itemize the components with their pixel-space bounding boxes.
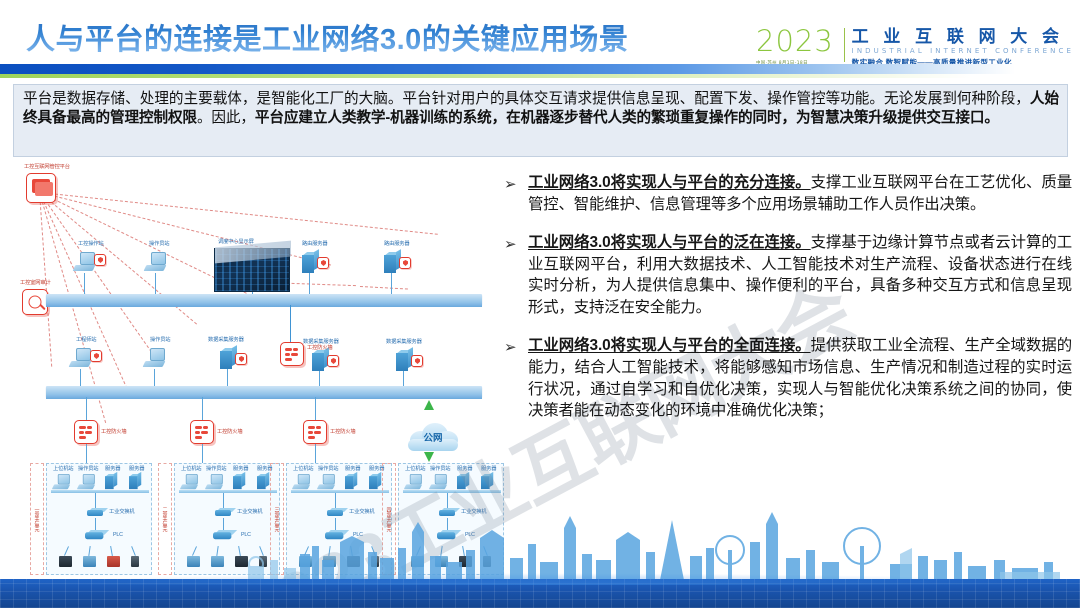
cell-node-label: 服务器 (105, 467, 120, 472)
device-icon (211, 556, 224, 567)
node-label: 数据采集服务器 (208, 338, 244, 343)
slide-canvas: 人与平台的连接是工业网络3.0的关键应用场景 人与平台的连接是工业网络3.0的关… (0, 0, 1080, 608)
production-cell: 上位机站 操作员站 服务器 服务器 工业交换机 (46, 463, 152, 575)
switch-label: 工业交换机 (237, 510, 263, 515)
connector-line (315, 397, 316, 420)
cell-node-label: 操作员站 (430, 467, 450, 472)
cloud-label: 公网 (406, 430, 460, 444)
node-label: 路由服务器 (384, 242, 410, 247)
workstation-icon (144, 348, 168, 370)
device-icon (459, 556, 472, 567)
server-icon (457, 474, 469, 489)
connector-line (227, 369, 228, 387)
connector-line (95, 518, 96, 530)
logo-conference-cn: 工 业 互 联 网 大 会 (852, 28, 1074, 46)
summary-text: 平台是数据存储、处理的主要载体，是智能化工厂的大脑。平台针对用户的具体交互请求提… (23, 90, 1059, 129)
connector-line (391, 273, 392, 295)
firewall-icon (74, 420, 98, 444)
industrial-switch-icon (215, 508, 235, 518)
cell-node-label: 上位机站 (405, 467, 425, 472)
device-icon (83, 556, 96, 567)
industrial-switch-icon (87, 508, 107, 518)
bullet-text: 工业网络3.0将实现人与平台的充分连接。支撑工业互联网平台在工艺优化、质量管控、… (528, 172, 1072, 215)
connector-line (403, 371, 404, 387)
connector-line (154, 369, 155, 387)
firewall-icon (303, 420, 327, 444)
connector-line (238, 546, 241, 556)
production-cell: 上位机站 操作员站 服务器 服务器 工业交换机 (286, 463, 392, 575)
logo-year: 2023 (756, 27, 842, 56)
plc-icon (437, 530, 460, 542)
uplink-arrow-icon (424, 400, 434, 410)
switch-label: 工业交换机 (109, 510, 135, 515)
cell-node-label: 服务器 (129, 467, 144, 472)
header-rule-green (0, 74, 1080, 78)
firewall-label: 工控防火墙 (330, 430, 356, 435)
device-icon (131, 556, 139, 567)
connector-line (416, 546, 421, 556)
network-bus-upper-edge (46, 303, 482, 307)
security-badge-icon (411, 355, 423, 367)
plc-icon (325, 530, 348, 542)
downlink-arrow-icon (424, 452, 434, 462)
connector-line (462, 546, 465, 556)
switch-label: 工业交换机 (349, 510, 375, 515)
cell-node-label: 操作员站 (78, 467, 98, 472)
connector-line (371, 546, 376, 556)
connector-line (64, 546, 69, 556)
node-label: 数据采集服务器 (386, 340, 422, 345)
plc-icon (213, 530, 236, 542)
plc-label: PLC (241, 533, 251, 538)
connector-line (192, 546, 197, 556)
connector-line (86, 397, 87, 420)
bullet-lead: 工业网络3.0将实现人与平台的全面连接。 (528, 337, 811, 354)
bullet-text: 工业网络3.0将实现人与平台的泛在连接。支撑基于边缘计算节点或者云计算的工业互联… (528, 232, 1072, 318)
connector-line (447, 493, 448, 508)
connector-line (95, 493, 96, 508)
connector-line (223, 518, 224, 530)
device-icon (107, 556, 120, 567)
cell-node-label: 服务器 (345, 467, 360, 472)
production-cell: 上位机站 操作员站 服务器 服务器 工业交换机 (398, 463, 504, 575)
plc-icon (85, 530, 108, 542)
control-center-screen (214, 248, 290, 292)
workstation-icon (293, 474, 307, 487)
industrial-switch-icon (327, 508, 347, 518)
device-icon (299, 556, 312, 567)
connector-line (304, 546, 309, 556)
industrial-switch-icon (439, 508, 459, 518)
firewall-icon (190, 420, 214, 444)
workstation-icon (181, 474, 195, 487)
connector-line (440, 546, 442, 556)
audit-icon (22, 289, 48, 315)
connector-line (259, 546, 264, 556)
bullet-lead: 工业网络3.0将实现人与平台的泛在连接。 (528, 234, 811, 251)
connector-line (335, 493, 336, 508)
connector-line (131, 546, 136, 556)
bullet-text: 工业网络3.0将实现人与平台的全面连接。提供获取工业全流程、生产全域数据的能力，… (528, 335, 1072, 421)
cell-name-label: 二号生产单元 (158, 463, 172, 575)
cell-bus (291, 490, 389, 493)
footer-band (0, 579, 1080, 608)
connector-line (483, 546, 488, 556)
cell-node-label: 操作员站 (318, 467, 338, 472)
bullet-marker-icon: ➢ (504, 235, 517, 253)
cell-node-label: 操作员站 (206, 467, 226, 472)
security-badge-icon (317, 257, 329, 269)
security-badge-icon (399, 257, 411, 269)
connector-line (350, 546, 353, 556)
bullet-item: ➢ 工业网络3.0将实现人与平台的全面连接。提供获取工业全流程、生产全域数据的能… (500, 335, 1072, 421)
workstation-icon (145, 252, 169, 274)
connector-line (202, 444, 203, 464)
cell-node-label: 服务器 (233, 467, 248, 472)
security-badge-icon (235, 353, 247, 365)
cell-bus (179, 490, 277, 493)
plc-label: PLC (465, 533, 475, 538)
server-icon (233, 474, 245, 489)
firewall-label: 工控防火墙 (307, 346, 333, 351)
logo-text-block: 工 业 互 联 网 大 会 INDUSTRIAL INTERNET CONFER… (852, 26, 1074, 68)
cell-node-label: 上位机站 (181, 467, 201, 472)
server-icon (481, 474, 493, 489)
bullet-lead: 工业网络3.0将实现人与平台的充分连接。 (528, 174, 811, 191)
connector-line (223, 493, 224, 508)
device-icon (371, 556, 379, 567)
cell-node-label: 上位机站 (53, 467, 73, 472)
network-architecture-diagram: 工控互联网管控平台 工控室网审计 工控操作站 操作员站 调度中心显示屏 路由服务… (8, 160, 494, 580)
server-icon (105, 474, 117, 489)
platform-icon (26, 173, 56, 203)
plc-label: PLC (353, 533, 363, 538)
security-badge-icon (90, 350, 102, 362)
audit-label: 工控室网审计 (20, 281, 51, 286)
production-cell: 上位机站 操作员站 服务器 服务器 工业交换机 (174, 463, 280, 575)
connector-line (88, 546, 90, 556)
cell-node-label: 上位机站 (293, 467, 313, 472)
device-icon (235, 556, 248, 567)
node-label: 操作员站 (149, 242, 169, 247)
connector-line (328, 546, 330, 556)
workstation-icon (78, 474, 92, 487)
workstation-icon (53, 474, 67, 487)
server-icon (345, 474, 357, 489)
firewall-label: 工控防火墙 (101, 430, 127, 435)
public-network-cloud: 公网 (406, 419, 460, 451)
connector-line (155, 273, 156, 295)
device-icon (483, 556, 491, 567)
plc-label: PLC (113, 533, 123, 538)
bullet-marker-icon: ➢ (504, 338, 517, 356)
logo-year-block: 2023 中国·苏州 8月1日-18日 (756, 26, 842, 66)
workstation-icon (206, 474, 220, 487)
cell-bus (403, 490, 501, 493)
page-title: 人与平台的连接是工业网络3.0的关键应用场景 (26, 16, 628, 58)
logo-divider (844, 28, 845, 62)
platform-label: 工控互联网管控平台 (24, 165, 70, 170)
firewall-icon (280, 342, 304, 366)
node-label: 路由服务器 (302, 242, 328, 247)
security-badge-icon (94, 254, 106, 266)
workstation-icon (430, 474, 444, 487)
logo-conference-en: INDUSTRIAL INTERNET CONFERENCE (852, 47, 1074, 55)
node-label: 操作员站 (150, 338, 170, 343)
header-rule-blue (0, 64, 1080, 74)
device-icon (59, 556, 72, 567)
device-icon (187, 556, 200, 567)
device-icon (435, 556, 448, 567)
server-icon (369, 474, 381, 489)
cell-node-label: 服务器 (481, 467, 496, 472)
security-badge-icon (327, 355, 339, 367)
bullet-marker-icon: ➢ (504, 175, 517, 193)
node-label: 工程师站 (76, 338, 96, 343)
cell-node-label: 服务器 (457, 467, 472, 472)
connector-line (202, 397, 203, 420)
connector-line (319, 371, 320, 387)
connector-line (86, 444, 87, 464)
connector-line (315, 444, 316, 464)
slide-header: 人与平台的连接是工业网络3.0的关键应用场景 人与平台的连接是工业网络3.0的关… (0, 0, 1080, 82)
firewall-label: 工控防火墙 (217, 430, 243, 435)
bullet-list: ➢ 工业网络3.0将实现人与平台的充分连接。支撑工业互联网平台在工艺优化、质量管… (500, 172, 1072, 439)
ray-line (40, 192, 438, 235)
network-bus-lower-edge (46, 395, 482, 399)
device-icon (259, 556, 267, 567)
connector-line (216, 546, 218, 556)
ray-line (360, 286, 408, 290)
server-icon (257, 474, 269, 489)
device-icon (347, 556, 360, 567)
workstation-icon (405, 474, 419, 487)
cell-name-label: 三号生产单元 (270, 463, 284, 575)
bullet-item: ➢ 工业网络3.0将实现人与平台的充分连接。支撑工业互联网平台在工艺优化、质量管… (500, 172, 1072, 215)
connector-line (84, 273, 85, 295)
server-icon (129, 474, 141, 489)
device-icon (323, 556, 336, 567)
switch-label: 工业交换机 (461, 510, 487, 515)
device-icon (411, 556, 424, 567)
connector-line (447, 518, 448, 530)
cell-name-label: 一号生产单元 (30, 463, 44, 575)
connector-line (309, 273, 310, 295)
connector-line (110, 546, 113, 556)
connector-line (80, 369, 81, 387)
cell-bus (51, 490, 149, 493)
connector-line (335, 518, 336, 530)
node-label: 工控操作站 (78, 242, 104, 247)
bullet-item: ➢ 工业网络3.0将实现人与平台的泛在连接。支撑基于边缘计算节点或者云计算的工业… (500, 232, 1072, 318)
summary-panel: 平台是数据存储、处理的主要载体，是智能化工厂的大脑。平台针对用户的具体交互请求提… (13, 84, 1068, 157)
cell-name-label: 四号生产单元 (382, 463, 396, 575)
workstation-icon (318, 474, 332, 487)
